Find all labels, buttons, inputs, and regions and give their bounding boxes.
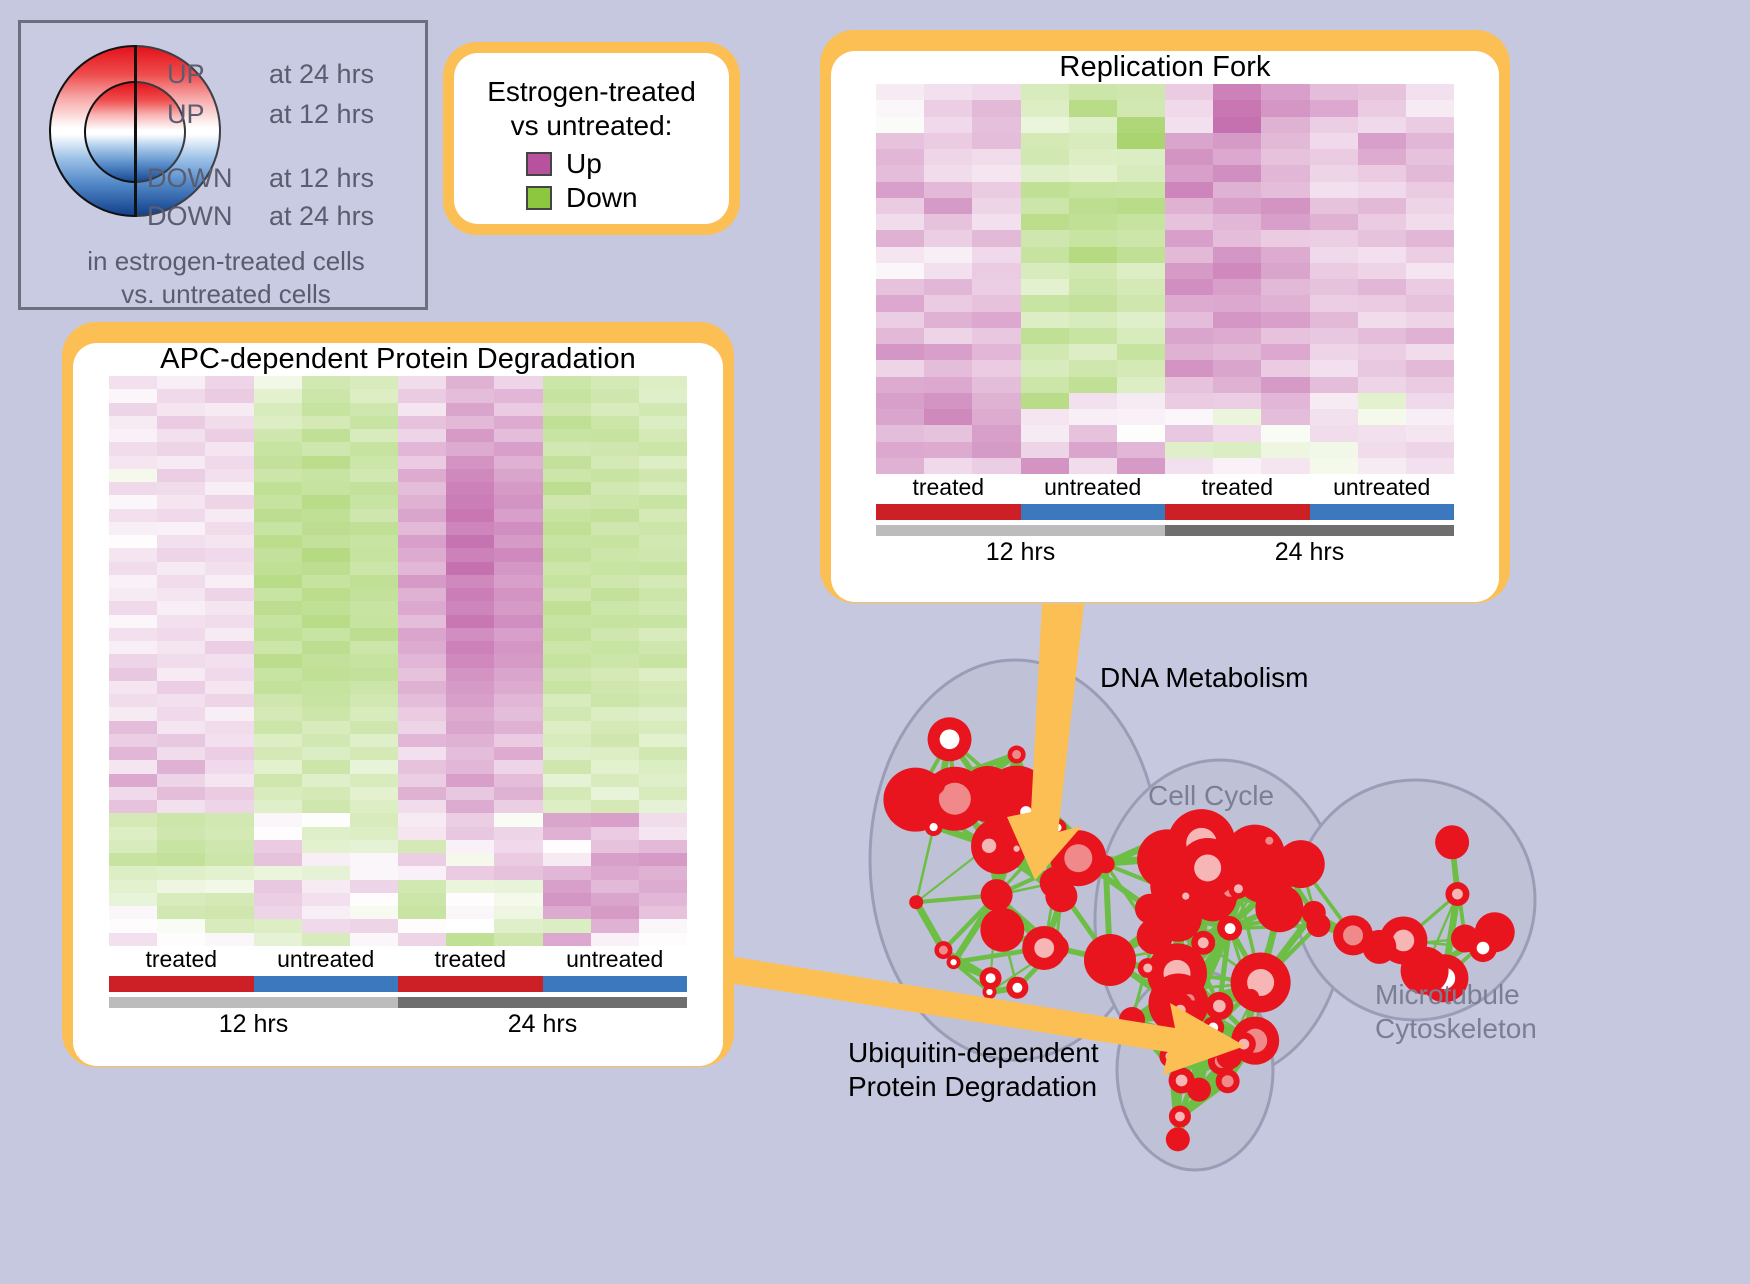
- heatmap-cell: [1358, 360, 1406, 376]
- time-label: 12 hrs: [109, 1010, 398, 1039]
- heatmap-cell: [398, 601, 446, 614]
- heatmap-cell: [543, 774, 591, 787]
- heatmap-cell: [302, 681, 350, 694]
- heatmap-cell: [1117, 182, 1165, 198]
- heatmap-cell: [543, 615, 591, 628]
- heatmap-cell: [350, 548, 398, 561]
- replication-condition-bar: [876, 504, 1454, 520]
- heatmap-cell: [157, 774, 205, 787]
- heatmap-cell: [1406, 84, 1454, 100]
- heatmap-cell: [1021, 409, 1069, 425]
- heatmap-cell: [639, 813, 687, 826]
- heatmap-cell: [398, 760, 446, 773]
- condition-label: treated: [1165, 474, 1310, 501]
- condition-color-bar-segment: [398, 976, 543, 992]
- heatmap-cell: [876, 312, 924, 328]
- heatmap-cell: [446, 588, 494, 601]
- heatmap-cell: [1165, 247, 1213, 263]
- heatmap-cell: [1165, 344, 1213, 360]
- heatmap-cell: [350, 442, 398, 455]
- heatmap-cell: [972, 442, 1020, 458]
- heatmap-cell: [1358, 425, 1406, 441]
- heatmap-cell: [639, 601, 687, 614]
- heatmap-cell: [157, 495, 205, 508]
- heatmap-cell: [109, 668, 157, 681]
- heatmap-cell: [350, 866, 398, 879]
- heatmap-cell: [205, 747, 253, 760]
- heatmap-cell: [1261, 279, 1309, 295]
- heatmap-cell: [1117, 100, 1165, 116]
- heatmap-cell: [157, 456, 205, 469]
- heatmap-cell: [302, 893, 350, 906]
- heatmap-cell: [1406, 425, 1454, 441]
- heatmap-cell: [302, 442, 350, 455]
- cluster-label-microtubule: Microtubule Cytoskeleton: [1375, 978, 1537, 1045]
- replication-fork-heatmap: [876, 84, 1454, 474]
- heatmap-cell: [446, 853, 494, 866]
- heatmap-cell: [543, 694, 591, 707]
- cluster-label-cell-cycle: Cell Cycle: [1148, 780, 1274, 812]
- heatmap-cell: [876, 247, 924, 263]
- heatmap-cell: [350, 469, 398, 482]
- replication-fork-inner: Replication Fork treateduntreatedtreated…: [831, 51, 1499, 602]
- heatmap-cell: [1069, 409, 1117, 425]
- network-node-core: [1176, 1075, 1188, 1087]
- heatmap-cell: [972, 198, 1020, 214]
- heatmap-cell: [1069, 263, 1117, 279]
- heatmap-cell: [446, 389, 494, 402]
- network-node[interactable]: [1302, 901, 1326, 925]
- heatmap-cell: [543, 535, 591, 548]
- heatmap-cell: [972, 312, 1020, 328]
- heatmap-cell: [1021, 133, 1069, 149]
- heatmap-cell: [876, 295, 924, 311]
- heatmap-cell: [398, 509, 446, 522]
- heatmap-cell: [591, 628, 639, 641]
- key-time-0: at 24 hrs: [269, 59, 374, 90]
- heatmap-cell: [494, 641, 542, 654]
- network-node[interactable]: [1435, 825, 1469, 859]
- heatmap-cell: [350, 482, 398, 495]
- heatmap-cell: [398, 416, 446, 429]
- heatmap-cell: [1261, 149, 1309, 165]
- heatmap-cell: [591, 482, 639, 495]
- heatmap-cell: [1213, 263, 1261, 279]
- heatmap-cell: [1213, 328, 1261, 344]
- heatmap-cell: [1358, 344, 1406, 360]
- heatmap-cell: [398, 495, 446, 508]
- heatmap-cell: [494, 800, 542, 813]
- heatmap-cell: [639, 509, 687, 522]
- heatmap-cell: [591, 800, 639, 813]
- heatmap-cell: [543, 840, 591, 853]
- heatmap-cell: [1310, 328, 1358, 344]
- heatmap-cell: [1261, 295, 1309, 311]
- heatmap-cell: [591, 787, 639, 800]
- heatmap-cell: [350, 522, 398, 535]
- heatmap-cell: [1117, 393, 1165, 409]
- heatmap-cell: [591, 906, 639, 919]
- heatmap-cell: [639, 641, 687, 654]
- heatmap-cell: [350, 575, 398, 588]
- heatmap-cell: [446, 429, 494, 442]
- heatmap-cell: [109, 588, 157, 601]
- network-node[interactable]: [980, 908, 1024, 952]
- heatmap-cell: [591, 880, 639, 893]
- heatmap-cell: [350, 601, 398, 614]
- heatmap-cell: [109, 800, 157, 813]
- heatmap-cell: [157, 641, 205, 654]
- heatmap-cell: [205, 654, 253, 667]
- heatmap-cell: [302, 403, 350, 416]
- heatmap-cell: [1261, 165, 1309, 181]
- heatmap-cell: [205, 469, 253, 482]
- heatmap-cell: [398, 628, 446, 641]
- heatmap-cell: [1358, 328, 1406, 344]
- heatmap-cell: [398, 654, 446, 667]
- heatmap-cell: [591, 601, 639, 614]
- heatmap-cell: [1069, 214, 1117, 230]
- heatmap-cell: [639, 827, 687, 840]
- network-node[interactable]: [1216, 1043, 1242, 1069]
- heatmap-cell: [639, 906, 687, 919]
- heatmap-cell: [398, 840, 446, 853]
- heatmap-cell: [302, 628, 350, 641]
- heatmap-cell: [1021, 360, 1069, 376]
- heatmap-cell: [109, 774, 157, 787]
- network-node[interactable]: [1084, 934, 1136, 986]
- heatmap-cell: [543, 456, 591, 469]
- heatmap-cell: [446, 482, 494, 495]
- heatmap-cell: [205, 482, 253, 495]
- condition-label: untreated: [543, 946, 688, 973]
- heatmap-cell: [639, 800, 687, 813]
- heatmap-cell: [1310, 198, 1358, 214]
- heatmap-cell: [494, 588, 542, 601]
- heatmap-cell: [205, 734, 253, 747]
- heatmap-cell: [924, 360, 972, 376]
- network-node-core: [1265, 837, 1273, 845]
- heatmap-cell: [1406, 263, 1454, 279]
- heatmap-cell: [543, 906, 591, 919]
- heatmap-cell: [1213, 409, 1261, 425]
- heatmap-cell: [350, 787, 398, 800]
- heatmap-cell: [446, 827, 494, 840]
- heatmap-cell: [1310, 149, 1358, 165]
- heatmap-cell: [1406, 279, 1454, 295]
- figure-root: UP at 24 hrs UP at 12 hrs DOWN at 12 hrs…: [0, 0, 1750, 1279]
- heatmap-cell: [1261, 425, 1309, 441]
- heatmap-cell: [254, 813, 302, 826]
- heatmap-cell: [205, 376, 253, 389]
- heatmap-cell: [494, 548, 542, 561]
- heatmap-cell: [350, 668, 398, 681]
- heatmap-cell: [1261, 377, 1309, 393]
- heatmap-cell: [302, 482, 350, 495]
- gradient-key-caption: in estrogen-treated cells vs. untreated …: [21, 245, 431, 312]
- heatmap-cell: [1165, 230, 1213, 246]
- heatmap-cell: [639, 760, 687, 773]
- heatmap-cell: [398, 721, 446, 734]
- heatmap-cell: [543, 416, 591, 429]
- heatmap-cell: [494, 376, 542, 389]
- heatmap-cell: [350, 456, 398, 469]
- heatmap-cell: [109, 787, 157, 800]
- heatmap-cell: [446, 681, 494, 694]
- network-node[interactable]: [1243, 989, 1259, 1005]
- heatmap-cell: [972, 149, 1020, 165]
- heatmap-cell: [302, 707, 350, 720]
- heatmap-cell: [254, 548, 302, 561]
- network-node[interactable]: [1166, 1127, 1190, 1151]
- heatmap-cell: [1165, 393, 1213, 409]
- heatmap-cell: [205, 495, 253, 508]
- heatmap-cell: [302, 548, 350, 561]
- heatmap-cell: [1117, 458, 1165, 474]
- heatmap-cell: [494, 575, 542, 588]
- heatmap-cell: [302, 747, 350, 760]
- heatmap-cell: [876, 328, 924, 344]
- heatmap-cell: [157, 694, 205, 707]
- heatmap-cell: [543, 469, 591, 482]
- heatmap-cell: [446, 522, 494, 535]
- heatmap-cell: [446, 615, 494, 628]
- heatmap-cell: [494, 760, 542, 773]
- heatmap-cell: [924, 393, 972, 409]
- heatmap-cell: [1310, 360, 1358, 376]
- heatmap-cell: [157, 601, 205, 614]
- heatmap-cell: [157, 760, 205, 773]
- heatmap-cell: [302, 641, 350, 654]
- heatmap-cell: [109, 694, 157, 707]
- heatmap-cell: [1117, 214, 1165, 230]
- heatmap-cell: [205, 880, 253, 893]
- heatmap-cell: [157, 933, 205, 946]
- network-node[interactable]: [981, 879, 1013, 911]
- heatmap-cell: [109, 548, 157, 561]
- gradient-key-box: UP at 24 hrs UP at 12 hrs DOWN at 12 hrs…: [18, 20, 428, 310]
- network-node[interactable]: [1271, 895, 1291, 915]
- heatmap-cell: [639, 774, 687, 787]
- heatmap-cell: [109, 933, 157, 946]
- heatmap-cell: [1406, 458, 1454, 474]
- network-node[interactable]: [923, 773, 945, 795]
- heatmap-cell: [639, 548, 687, 561]
- heatmap-cell: [350, 774, 398, 787]
- condition-label: treated: [398, 946, 543, 973]
- heatmap-cell: [924, 409, 972, 425]
- time-color-bar-segment: [1165, 525, 1454, 536]
- heatmap-cell: [109, 456, 157, 469]
- heatmap-cell: [1358, 458, 1406, 474]
- time-label: 24 hrs: [1165, 538, 1454, 567]
- heatmap-cell: [543, 800, 591, 813]
- heatmap-cell: [157, 562, 205, 575]
- network-node[interactable]: [1178, 1028, 1202, 1052]
- heatmap-cell: [398, 707, 446, 720]
- heatmap-cell: [302, 721, 350, 734]
- up-swatch-icon: [526, 152, 552, 176]
- heatmap-cell: [972, 182, 1020, 198]
- condition-label: untreated: [254, 946, 399, 973]
- heatmap-cell: [1310, 230, 1358, 246]
- heatmap-cell: [350, 389, 398, 402]
- heatmap-cell: [543, 376, 591, 389]
- heatmap-cell: [446, 403, 494, 416]
- heatmap-cell: [1358, 312, 1406, 328]
- heatmap-cell: [157, 654, 205, 667]
- heatmap-cell: [972, 393, 1020, 409]
- heatmap-cell: [157, 429, 205, 442]
- heatmap-cell: [157, 681, 205, 694]
- heatmap-cell: [494, 919, 542, 932]
- heatmap-cell: [109, 760, 157, 773]
- legend-item-up[interactable]: Up: [526, 148, 729, 180]
- heatmap-cell: [972, 295, 1020, 311]
- heatmap-cell: [1165, 458, 1213, 474]
- heatmap-cell: [1213, 198, 1261, 214]
- heatmap-cell: [109, 442, 157, 455]
- heatmap-cell: [876, 425, 924, 441]
- legend-label-down: Down: [566, 182, 638, 214]
- heatmap-cell: [109, 747, 157, 760]
- heatmap-cell: [302, 376, 350, 389]
- network-node-core: [939, 946, 948, 955]
- heatmap-cell: [254, 893, 302, 906]
- heatmap-cell: [157, 747, 205, 760]
- apc-condition-bar: [109, 976, 687, 992]
- heatmap-cell: [639, 456, 687, 469]
- heatmap-cell: [591, 562, 639, 575]
- condition-color-bar-segment: [876, 504, 1021, 520]
- heatmap-cell: [398, 919, 446, 932]
- heatmap-cell: [398, 469, 446, 482]
- heatmap-cell: [591, 933, 639, 946]
- heatmap-cell: [1069, 182, 1117, 198]
- heatmap-cell: [398, 615, 446, 628]
- heatmap-cell: [1069, 279, 1117, 295]
- network-node[interactable]: [1040, 867, 1072, 899]
- heatmap-cell: [543, 681, 591, 694]
- heatmap-cell: [398, 681, 446, 694]
- heatmap-cell: [254, 522, 302, 535]
- heatmap-cell: [494, 866, 542, 879]
- heatmap-cell: [1165, 165, 1213, 181]
- heatmap-cell: [591, 469, 639, 482]
- heatmap-cell: [205, 827, 253, 840]
- network-node[interactable]: [1277, 840, 1325, 888]
- heatmap-cell: [639, 615, 687, 628]
- heatmap-cell: [924, 214, 972, 230]
- apc-degradation-inner: APC-dependent Protein Degradation treate…: [73, 343, 723, 1066]
- heatmap-cell: [205, 840, 253, 853]
- heatmap-cell: [591, 389, 639, 402]
- heatmap-cell: [494, 893, 542, 906]
- heatmap-cell: [1069, 165, 1117, 181]
- heatmap-cell: [205, 681, 253, 694]
- heatmap-cell: [639, 654, 687, 667]
- heatmap-cell: [254, 535, 302, 548]
- legend-label-up: Up: [566, 148, 602, 180]
- heatmap-cell: [494, 535, 542, 548]
- heatmap-cell: [109, 893, 157, 906]
- heatmap-cell: [205, 933, 253, 946]
- network-node[interactable]: [1097, 855, 1115, 873]
- heatmap-cell: [543, 628, 591, 641]
- heatmap-cell: [446, 495, 494, 508]
- heatmap-cell: [205, 721, 253, 734]
- network-node[interactable]: [1362, 930, 1396, 964]
- legend-item-down[interactable]: Down: [526, 182, 729, 214]
- heatmap-cell: [1117, 409, 1165, 425]
- condition-label: treated: [109, 946, 254, 973]
- network-node[interactable]: [1119, 1007, 1145, 1033]
- heatmap-cell: [205, 615, 253, 628]
- condition-color-bar-segment: [254, 976, 399, 992]
- heatmap-cell: [924, 344, 972, 360]
- heatmap-cell: [446, 774, 494, 787]
- heatmap-cell: [398, 588, 446, 601]
- heatmap-cell: [494, 601, 542, 614]
- heatmap-cell: [254, 734, 302, 747]
- heatmap-cell: [205, 416, 253, 429]
- heatmap-cell: [109, 376, 157, 389]
- network-node[interactable]: [909, 895, 923, 909]
- heatmap-cell: [446, 442, 494, 455]
- heatmap-cell: [972, 247, 1020, 263]
- heatmap-cell: [639, 707, 687, 720]
- time-label: 12 hrs: [876, 538, 1165, 567]
- heatmap-cell: [1213, 214, 1261, 230]
- heatmap-cell: [1165, 377, 1213, 393]
- heatmap-cell: [1358, 442, 1406, 458]
- heatmap-cell: [591, 456, 639, 469]
- heatmap-cell: [1117, 377, 1165, 393]
- heatmap-cell: [543, 403, 591, 416]
- heatmap-cell: [1069, 100, 1117, 116]
- heatmap-cell: [591, 495, 639, 508]
- heatmap-cell: [350, 880, 398, 893]
- heatmap-cell: [1358, 100, 1406, 116]
- heatmap-cell: [924, 230, 972, 246]
- heatmap-cell: [639, 734, 687, 747]
- heatmap-cell: [157, 469, 205, 482]
- heatmap-cell: [1310, 312, 1358, 328]
- heatmap-cell: [494, 813, 542, 826]
- heatmap-cell: [639, 787, 687, 800]
- heatmap-cell: [591, 535, 639, 548]
- network-node-core: [1182, 893, 1189, 900]
- heatmap-cell: [1069, 442, 1117, 458]
- heatmap-cell: [1165, 312, 1213, 328]
- heatmap-cell: [1021, 328, 1069, 344]
- heatmap-cell: [446, 866, 494, 879]
- heatmap-cell: [543, 522, 591, 535]
- time-color-bar-segment: [398, 997, 687, 1008]
- heatmap-cell: [1165, 409, 1213, 425]
- heatmap-cell: [109, 840, 157, 853]
- heatmap-cell: [109, 628, 157, 641]
- heatmap-cell: [398, 866, 446, 879]
- heatmap-cell: [1069, 133, 1117, 149]
- heatmap-cell: [1406, 442, 1454, 458]
- heatmap-cell: [446, 416, 494, 429]
- heatmap-cell: [302, 840, 350, 853]
- heatmap-cell: [1310, 393, 1358, 409]
- heatmap-cell: [446, 747, 494, 760]
- heatmap-cell: [1261, 409, 1309, 425]
- heatmap-cell: [446, 787, 494, 800]
